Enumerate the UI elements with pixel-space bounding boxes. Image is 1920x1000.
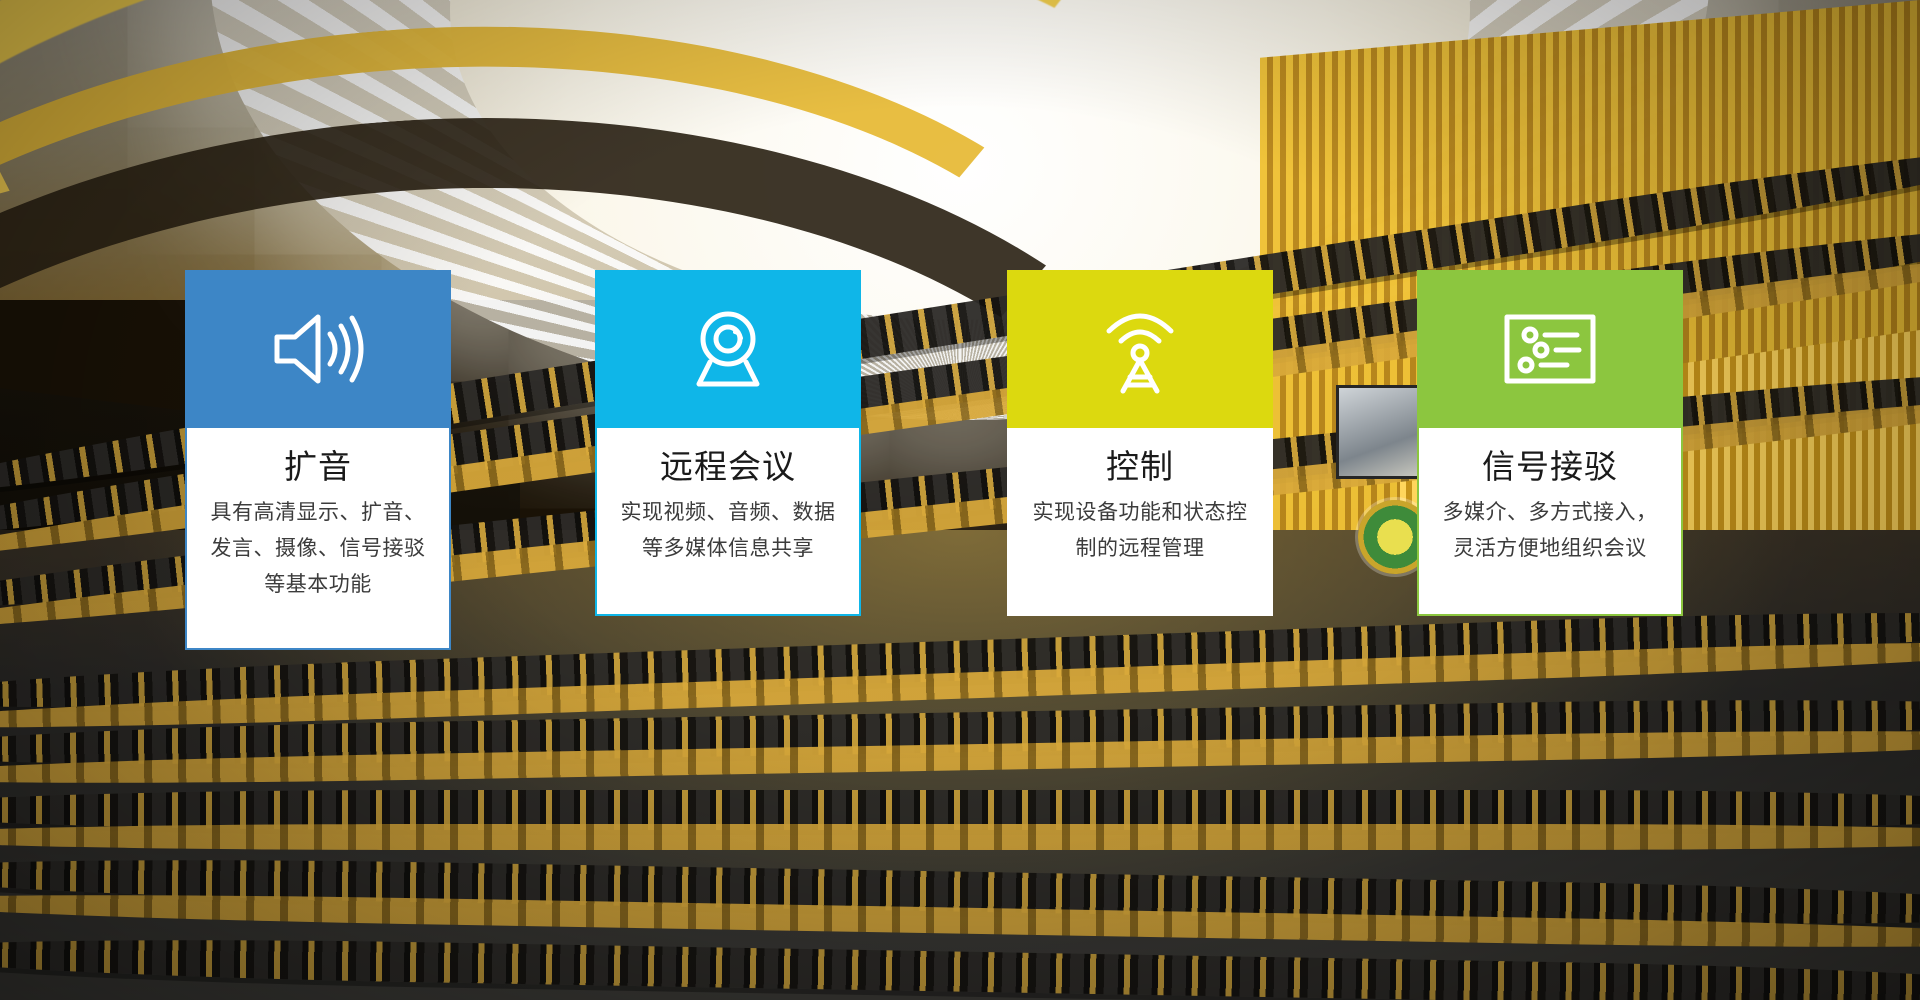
card-body-remote-conference: 远程会议 实现视频、音频、数据等多媒体信息共享 <box>595 428 861 616</box>
card-desc-amplification: 具有高清显示、扩音、发言、摄像、信号接驳等基本功能 <box>209 495 427 603</box>
card-desc-remote-conference: 实现视频、音频、数据等多媒体信息共享 <box>619 495 837 567</box>
feature-card-remote-conference[interactable]: 远程会议 实现视频、音频、数据等多媒体信息共享 <box>595 270 861 616</box>
feature-card-group: 扩音 具有高清显示、扩音、发言、摄像、信号接驳等基本功能 远程会议 实现视频、音 <box>0 0 1920 1000</box>
card-title-amplification: 扩音 <box>209 448 427 487</box>
page-stage: 扩音 具有高清显示、扩音、发言、摄像、信号接驳等基本功能 远程会议 实现视频、音 <box>0 0 1920 1000</box>
card-title-control: 控制 <box>1029 448 1251 487</box>
card-title-remote-conference: 远程会议 <box>619 448 837 487</box>
card-header-remote-conference <box>595 270 861 428</box>
speaker-volume-icon <box>270 306 366 392</box>
card-header-amplification <box>185 270 451 428</box>
card-body-amplification: 扩音 具有高清显示、扩音、发言、摄像、信号接驳等基本功能 <box>185 428 451 650</box>
card-body-signal-access: 信号接驳 多媒介、多方式接入，灵活方便地组织会议 <box>1417 428 1683 616</box>
broadcast-tower-icon <box>1097 303 1183 395</box>
feature-card-control[interactable]: 控制 实现设备功能和状态控制的远程管理 <box>1007 270 1273 616</box>
card-header-signal-access <box>1417 270 1683 428</box>
card-desc-signal-access: 多媒介、多方式接入，灵活方便地组织会议 <box>1441 495 1659 567</box>
card-body-control: 控制 实现设备功能和状态控制的远程管理 <box>1007 428 1273 616</box>
feature-card-signal-access[interactable]: 信号接驳 多媒介、多方式接入，灵活方便地组织会议 <box>1417 270 1683 616</box>
settings-list-icon <box>1501 311 1599 387</box>
card-desc-control: 实现设备功能和状态控制的远程管理 <box>1029 495 1251 567</box>
feature-card-amplification[interactable]: 扩音 具有高清显示、扩音、发言、摄像、信号接驳等基本功能 <box>185 270 451 650</box>
card-header-control <box>1007 270 1273 428</box>
webcam-icon <box>682 306 774 392</box>
card-title-signal-access: 信号接驳 <box>1441 448 1659 487</box>
